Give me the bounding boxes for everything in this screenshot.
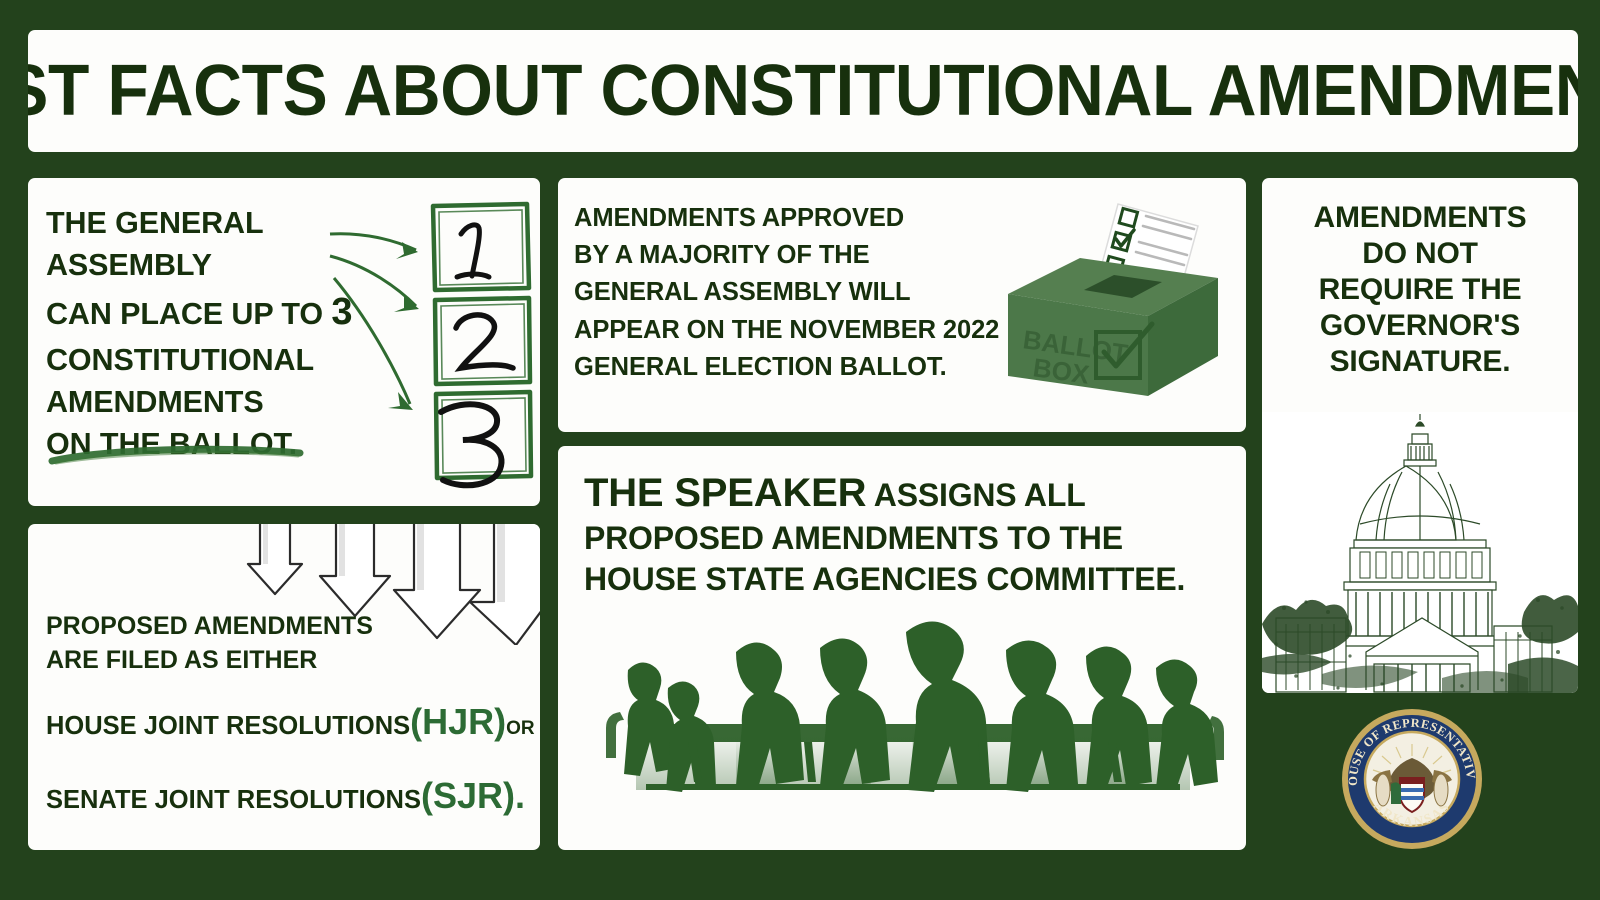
state-capitol-engraving-icon <box>1262 412 1578 693</box>
ballot-line-2: BY A MAJORITY OF THE <box>574 241 870 269</box>
panel-general-assembly: THE GENERAL ASSEMBLY CAN PLACE UP TO 3 C… <box>28 178 540 506</box>
assembly-line-4: AMENDMENTS <box>46 385 264 419</box>
speaker-line-1-rest: ASSIGNS ALL <box>866 477 1085 513</box>
ballot-line-4: APPEAR ON THE NOVEMBER 2022 <box>574 316 999 344</box>
ballot-box-icon: BALLOT BOX <box>988 186 1238 416</box>
house-resolution-label: HOUSE JOINT RESOLUTIONS <box>46 712 410 740</box>
handdrawn-underline-icon <box>48 444 308 466</box>
ballot-statement: AMENDMENTS APPROVED BY A MAJORITY OF THE… <box>574 200 1024 386</box>
curved-arrows-icon <box>324 226 444 466</box>
poster-title-bar: FAST FACTS ABOUT CONSTITUTIONAL AMENDMEN… <box>28 30 1578 152</box>
senate-joint-resolution-line: SENATE JOINT RESOLUTIONS(SJR). <box>46 774 536 817</box>
governor-line-3: REQUIRE THE <box>1319 273 1522 306</box>
panel-governor-signature: AMENDMENTS DO NOT REQUIRE THE GOVERNOR'S… <box>1262 178 1578 693</box>
resolution-conjunction: OR <box>506 718 535 739</box>
ballot-line-5: GENERAL ELECTION BALLOT. <box>574 353 947 381</box>
governor-line-1: AMENDMENTS <box>1314 201 1527 234</box>
page-title: FAST FACTS ABOUT CONSTITUTIONAL AMENDMEN… <box>28 50 1578 132</box>
governor-statement: AMENDMENTS DO NOT REQUIRE THE GOVERNOR'S… <box>1272 200 1568 380</box>
house-resolution-abbr: (HJR) <box>410 701 506 742</box>
committee-silhouette-icon <box>576 616 1228 846</box>
resolution-line-2: ARE FILED AS EITHER <box>46 646 317 674</box>
senate-resolution-label: SENATE JOINT RESOLUTIONS <box>46 786 421 814</box>
resolution-line-1: PROPOSED AMENDMENTS <box>46 612 373 640</box>
speaker-statement: THE SPEAKER ASSIGNS ALL PROPOSED AMENDME… <box>584 468 1224 599</box>
governor-line-4: GOVERNOR'S <box>1320 309 1520 342</box>
speaker-line-2: PROPOSED AMENDMENTS TO THE <box>584 520 1123 556</box>
assembly-line-2: CAN PLACE UP TO <box>46 297 323 331</box>
arkansas-house-seal: HOUSE OF REPRESENTATIVES ARKANSAS <box>1341 708 1483 850</box>
resolution-statement: PROPOSED AMENDMENTS ARE FILED AS EITHER <box>46 610 446 678</box>
panel-speaker-assignment: THE SPEAKER ASSIGNS ALL PROPOSED AMENDME… <box>558 446 1246 850</box>
senate-resolution-abbr: (SJR) <box>421 775 515 816</box>
assembly-line-1: THE GENERAL ASSEMBLY <box>46 206 263 282</box>
panel-joint-resolutions: PROPOSED AMENDMENTS ARE FILED AS EITHER … <box>28 524 540 850</box>
assembly-line-3: CONSTITUTIONAL <box>46 343 314 377</box>
speaker-line-3: HOUSE STATE AGENCIES COMMITTEE. <box>584 561 1185 597</box>
house-joint-resolution-line: HOUSE JOINT RESOLUTIONS(HJR)OR <box>46 700 536 743</box>
governor-line-5: SIGNATURE. <box>1330 345 1511 378</box>
governor-line-2: DO NOT <box>1362 237 1477 270</box>
speaker-lead-label: THE SPEAKER <box>584 471 866 515</box>
senate-resolution-period: . <box>515 775 525 816</box>
panel-ballot-approval: AMENDMENTS APPROVED BY A MAJORITY OF THE… <box>558 178 1246 432</box>
ballot-line-3: GENERAL ASSEMBLY WILL <box>574 278 911 306</box>
ballot-line-1: AMENDMENTS APPROVED <box>574 204 904 232</box>
infographic-poster: FAST FACTS ABOUT CONSTITUTIONAL AMENDMEN… <box>0 0 1600 900</box>
